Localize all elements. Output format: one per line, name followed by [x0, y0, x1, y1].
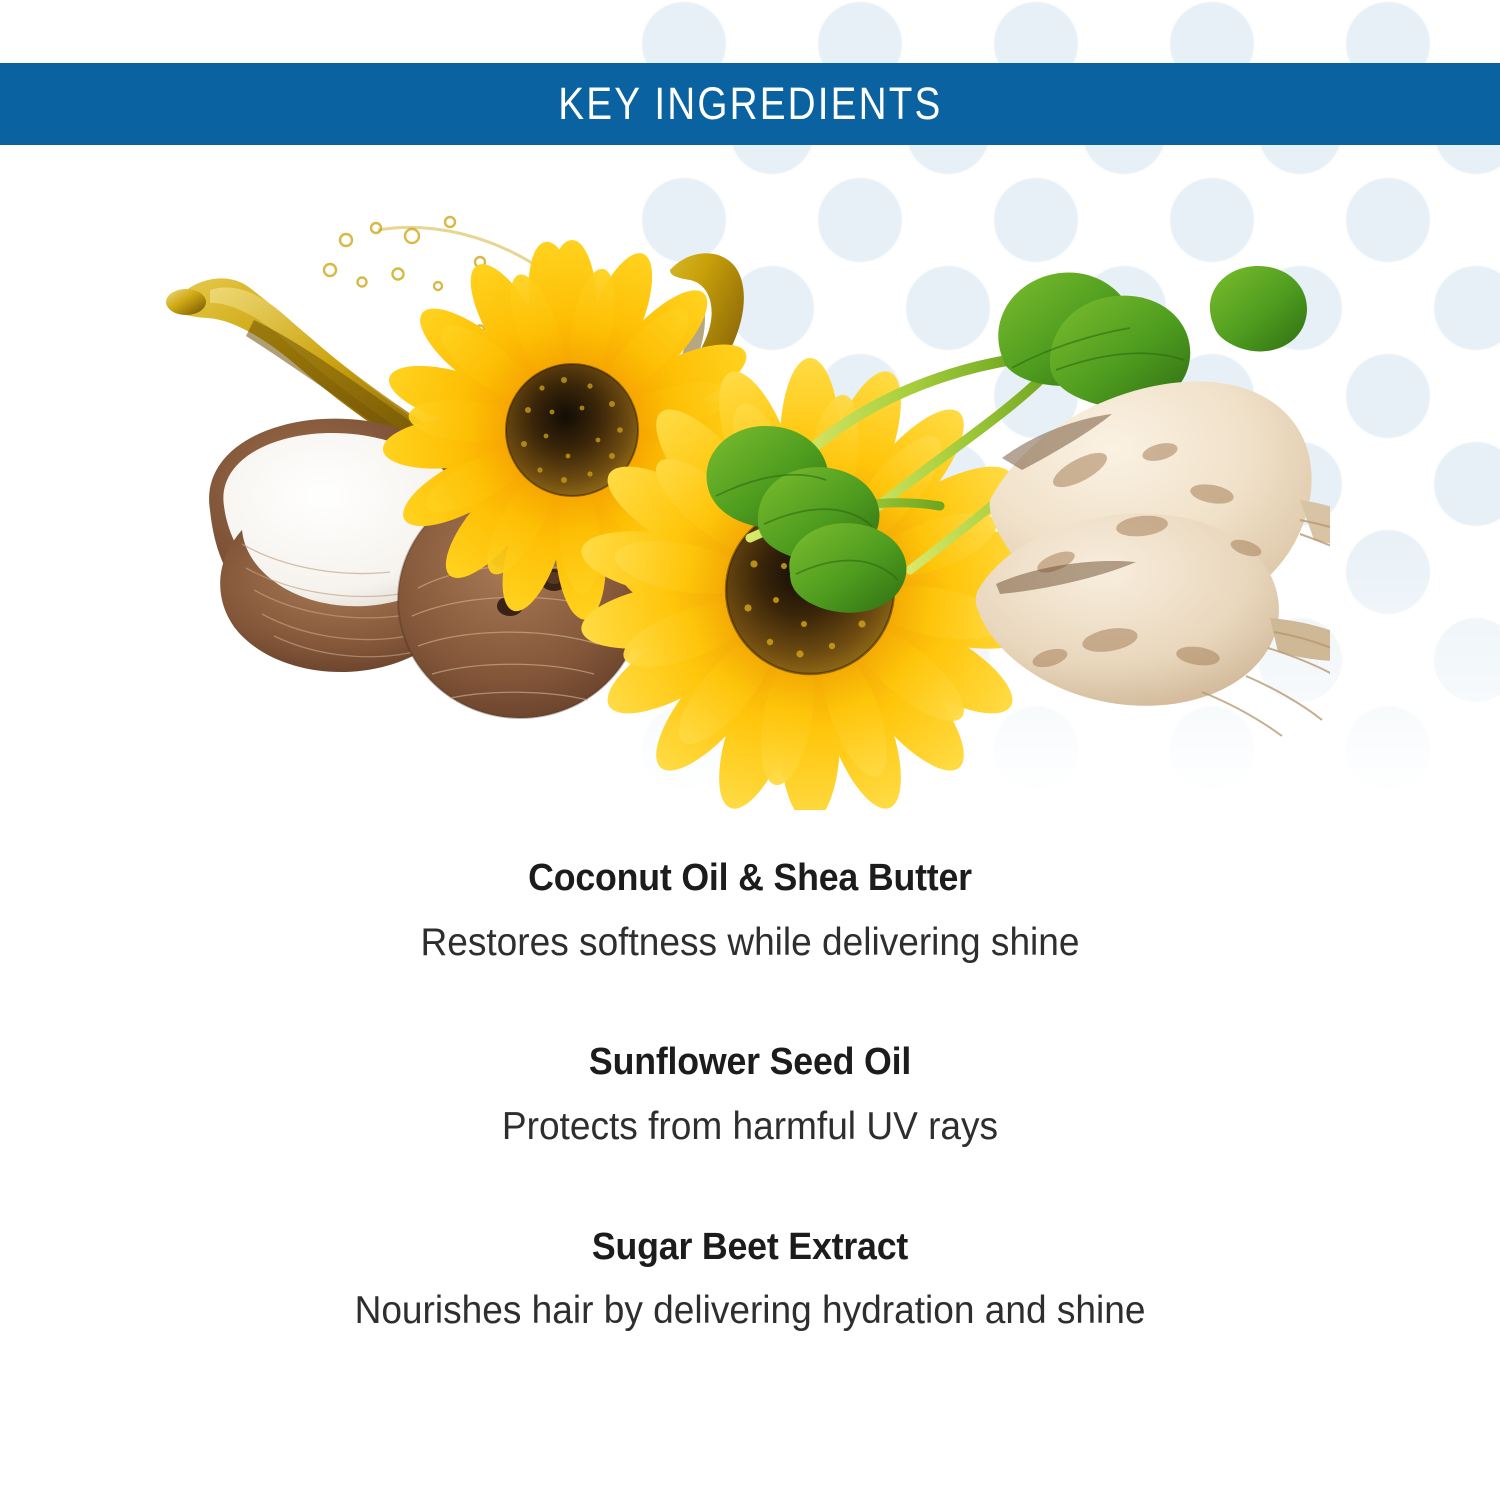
ingredient-description: Restores softness while delivering shine — [38, 919, 1463, 968]
key-ingredients-infographic: KEY INGREDIENTS — [0, 0, 1500, 1500]
ingredients-hero-image — [150, 170, 1330, 810]
sugar-beet — [976, 381, 1330, 736]
ingredient-item: Sunflower Seed Oil Protects from harmful… — [0, 1039, 1500, 1151]
ingredient-description: Protects from harmful UV rays — [38, 1103, 1463, 1152]
ingredient-name: Sugar Beet Extract — [45, 1224, 1455, 1272]
ingredient-name: Sunflower Seed Oil — [45, 1039, 1455, 1087]
header-banner: KEY INGREDIENTS — [0, 63, 1500, 145]
ingredient-list: Coconut Oil & Shea Butter Restores softn… — [0, 855, 1500, 1408]
ingredient-name: Coconut Oil & Shea Butter — [45, 855, 1455, 903]
ingredient-item: Sugar Beet Extract Nourishes hair by del… — [0, 1224, 1500, 1336]
ingredient-item: Coconut Oil & Shea Butter Restores softn… — [0, 855, 1500, 967]
page-title: KEY INGREDIENTS — [558, 78, 942, 130]
ingredient-description: Nourishes hair by delivering hydration a… — [38, 1287, 1463, 1336]
